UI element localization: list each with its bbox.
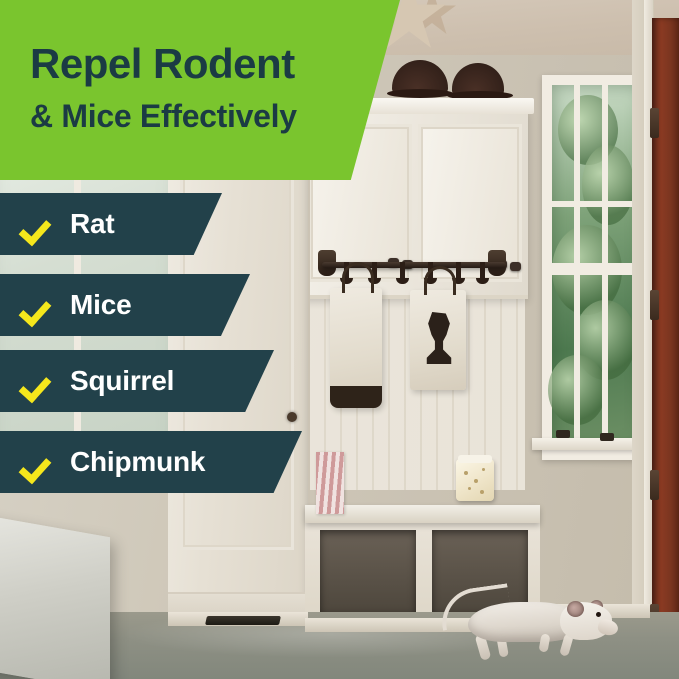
door-hinge-top [650, 108, 659, 138]
check-icon [24, 366, 54, 396]
sachet-granule [480, 490, 484, 494]
checklist-label: Rat [70, 208, 115, 240]
sachet-granule [468, 487, 471, 490]
mouse [440, 588, 620, 668]
headline-line-2: & Mice Effectively [30, 98, 297, 135]
check-icon [24, 209, 54, 239]
tote-bag-strap [424, 266, 456, 295]
checklist-item-chipmunk: Chipmunk [0, 431, 302, 493]
checklist-label: Mice [70, 289, 131, 321]
sash-lock-right [600, 433, 614, 441]
repellent-sachet [456, 459, 494, 501]
sash-lock-left [556, 430, 570, 438]
coat-hook [456, 262, 461, 284]
checklist-label: Chipmunk [70, 446, 205, 478]
checklist-item-rat: Rat [0, 193, 222, 255]
tote-bag-silhouette-print [422, 312, 456, 364]
advertisement-image: Repel Rodent & Mice Effectively Rat Mice… [0, 0, 679, 679]
mouse-front-leg [539, 633, 551, 652]
sachet-granule [474, 479, 478, 483]
right-window-mullion-h1 [552, 201, 644, 207]
door-hinge-middle [650, 290, 659, 320]
sachet-seal [458, 455, 492, 463]
coat-hook [480, 262, 485, 284]
mouse-ear-near [567, 601, 584, 617]
striped-textile [316, 452, 344, 514]
checklist-item-squirrel: Squirrel [0, 350, 274, 412]
tote-bag-bottom [330, 386, 382, 408]
check-icon [24, 290, 54, 320]
right-window-meeting-rail [552, 263, 644, 275]
mouse-eye [596, 612, 601, 617]
headline-banner [0, 0, 400, 180]
bench-cubby-left [320, 530, 416, 612]
foliage [582, 145, 634, 225]
sachet-granule [464, 471, 468, 475]
sachet-granule [482, 468, 485, 471]
pantry-knob [287, 412, 297, 422]
headline-line-1: Repel Rodent [30, 40, 295, 88]
right-window-sill [532, 438, 644, 450]
table-top [0, 511, 110, 679]
door-hinge-lower [650, 470, 659, 500]
cabinet-knob-right-2 [510, 262, 521, 271]
floor-vent [205, 616, 281, 625]
check-icon [24, 447, 54, 477]
cabinet-door-right [418, 124, 522, 282]
tote-bag-left [330, 288, 382, 408]
tote-bag-right [410, 290, 466, 390]
checklist-label: Squirrel [70, 365, 174, 397]
tote-bag-strap [342, 262, 374, 293]
hat-brim [387, 89, 453, 98]
coat-hook [400, 262, 405, 284]
checklist-item-mice: Mice [0, 274, 250, 336]
